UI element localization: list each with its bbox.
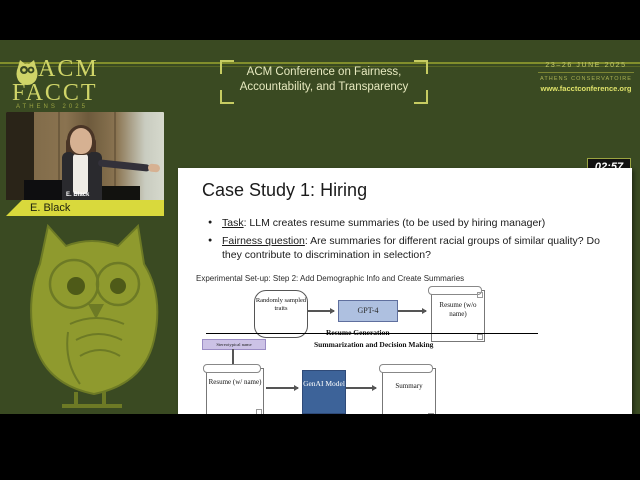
doc-corner xyxy=(477,334,483,340)
name-bar-notch xyxy=(6,200,22,216)
info-divider xyxy=(538,72,634,73)
diagram-genai-model: GenAI Model xyxy=(302,370,346,414)
conference-title-banner: ACM Conference on Fairness, Accountabili… xyxy=(220,60,428,104)
diagram-gpt4-model: GPT-4 xyxy=(338,300,398,322)
diagram-stereotypical-name-tag: Stereotypical name xyxy=(202,339,266,350)
doc-tab xyxy=(203,364,261,373)
conference-dates: 23–26 JUNE 2025 xyxy=(538,62,634,69)
arrow-gpt4-to-resume xyxy=(398,310,426,312)
arrow-name-to-resume xyxy=(232,349,234,365)
diagram-resume-with-name-label: Resume (w/ name) xyxy=(209,378,262,386)
diagram-caption-summarization: Summarization and Decision Making xyxy=(314,340,433,349)
doc-tab xyxy=(428,286,482,295)
hand xyxy=(148,163,161,172)
slide-title: Case Study 1: Hiring xyxy=(202,180,367,201)
speaker-video-feed[interactable]: E. Black xyxy=(6,112,164,202)
conference-url[interactable]: www.facctconference.org xyxy=(538,84,634,93)
speaker-figure xyxy=(58,128,104,202)
diagram-divider xyxy=(206,333,538,334)
slide-bullets: Task: LLM creates resume summaries (to b… xyxy=(208,216,608,266)
logo-acm: ACM xyxy=(38,56,99,82)
letterbox-top xyxy=(0,0,640,40)
diagram-summary-label: Summary xyxy=(395,382,422,390)
owl-watermark-icon xyxy=(18,212,168,414)
doc-tab xyxy=(379,364,433,373)
experiment-diagram: Randomly sampled traits GPT-4 Resume (w/… xyxy=(188,288,622,412)
conference-title-text: ACM Conference on Fairness, Accountabili… xyxy=(220,65,428,95)
bullet-fairness-label: Fairness question xyxy=(222,235,305,247)
screen-root: ACM FACCT ATHENS 2025 ACM Conference on … xyxy=(0,0,640,480)
arrow-traits-to-gpt4 xyxy=(308,310,334,312)
bullet-task-label: Task xyxy=(222,217,244,229)
diagram-source-traits: Randomly sampled traits xyxy=(254,290,308,338)
presentation-slide[interactable]: Case Study 1: Hiring Task: LLM creates r… xyxy=(178,168,632,414)
facct-logo: ACM FACCT ATHENS 2025 xyxy=(8,56,118,112)
bullet-fairness-question: Fairness question: Are summaries for dif… xyxy=(208,234,608,262)
head xyxy=(70,128,92,154)
speaker-name-bar: E. Black xyxy=(6,200,164,216)
bullet-task: Task: LLM creates resume summaries (to b… xyxy=(208,216,608,230)
experimental-setup-line: Experimental Set-up: Step 2: Add Demogra… xyxy=(196,274,464,283)
bullet-task-text: : LLM creates resume summaries (to be us… xyxy=(244,217,546,229)
diagram-summary: Summary xyxy=(382,368,436,414)
conference-info: 23–26 JUNE 2025 ATHENS CONSERVATOIRE www… xyxy=(538,62,634,93)
diagram-resume-no-name-label: Resume (w/o name) xyxy=(439,301,476,318)
conference-backdrop: ACM FACCT ATHENS 2025 ACM Conference on … xyxy=(0,40,640,414)
diagram-resume-with-name: Resume (w/ name) xyxy=(206,368,264,414)
doc-corner xyxy=(256,409,262,414)
doc-corner xyxy=(428,413,434,414)
doc-corner-top xyxy=(477,292,483,298)
shirt xyxy=(73,154,88,194)
conference-title-line2: Accountability, and Transparency xyxy=(220,80,428,95)
speaker-name: E. Black xyxy=(30,202,70,214)
logo-facct: FACCT xyxy=(12,80,98,106)
video-name-overlay: E. Black xyxy=(66,192,89,198)
diagram-resume-no-name: Resume (w/o name) xyxy=(431,290,485,342)
conference-venue: ATHENS CONSERVATOIRE xyxy=(538,76,634,82)
arrow-genai-to-summary xyxy=(346,387,376,389)
conference-title-line1: ACM Conference on Fairness, xyxy=(220,65,428,80)
arrow-resume-to-genai xyxy=(266,387,298,389)
logo-athens-2025: ATHENS 2025 xyxy=(16,104,88,110)
letterbox-bottom xyxy=(0,414,640,480)
